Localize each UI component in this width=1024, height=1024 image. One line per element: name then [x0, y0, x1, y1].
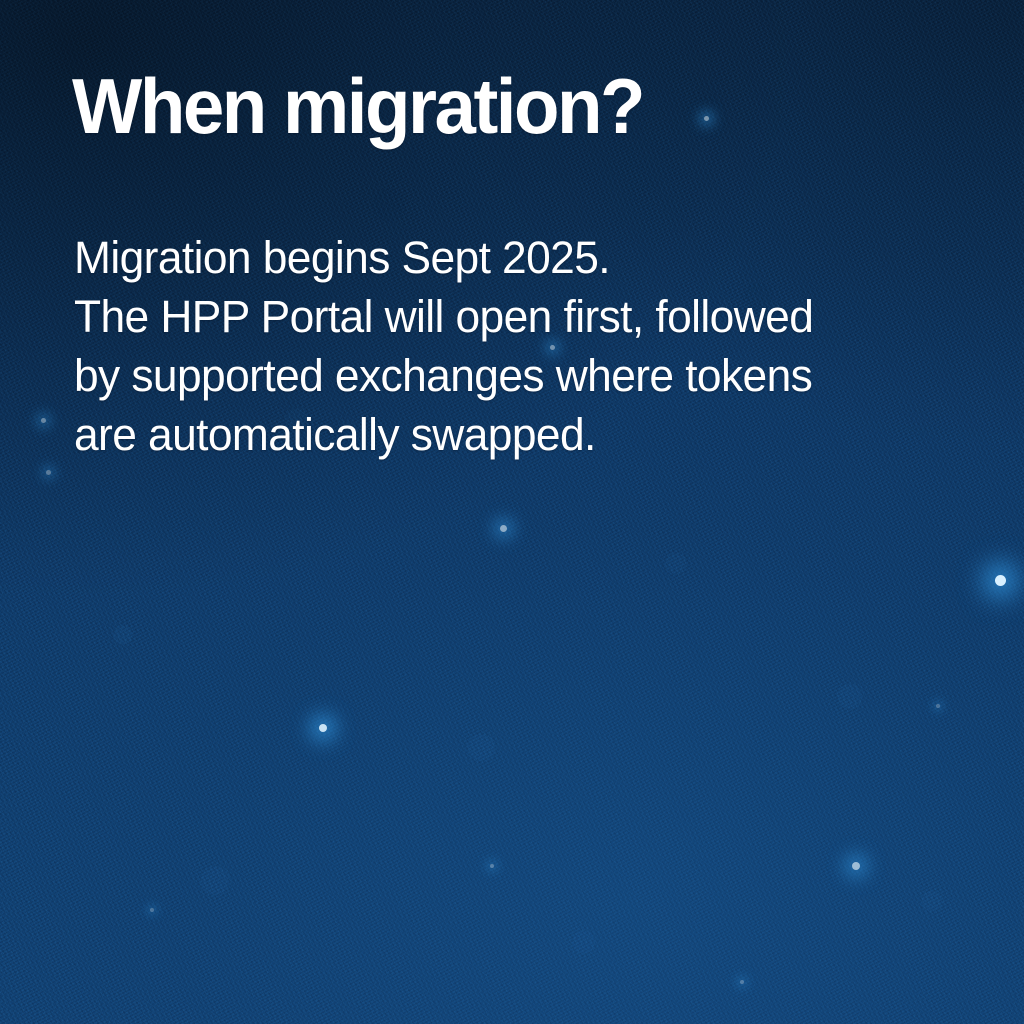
slide-canvas: When migration? Migration begins Sept 20…	[0, 0, 1024, 1024]
body-line: Migration begins Sept 2025.	[74, 228, 813, 287]
body-line: are automatically swapped.	[74, 405, 813, 464]
page-title: When migration?	[72, 64, 643, 148]
body-line: The HPP Portal will open first, followed	[74, 287, 813, 346]
background-vignette	[0, 0, 1024, 1024]
body-line: by supported exchanges where tokens	[74, 346, 813, 405]
body-paragraph: Migration begins Sept 2025.The HPP Porta…	[74, 228, 813, 464]
